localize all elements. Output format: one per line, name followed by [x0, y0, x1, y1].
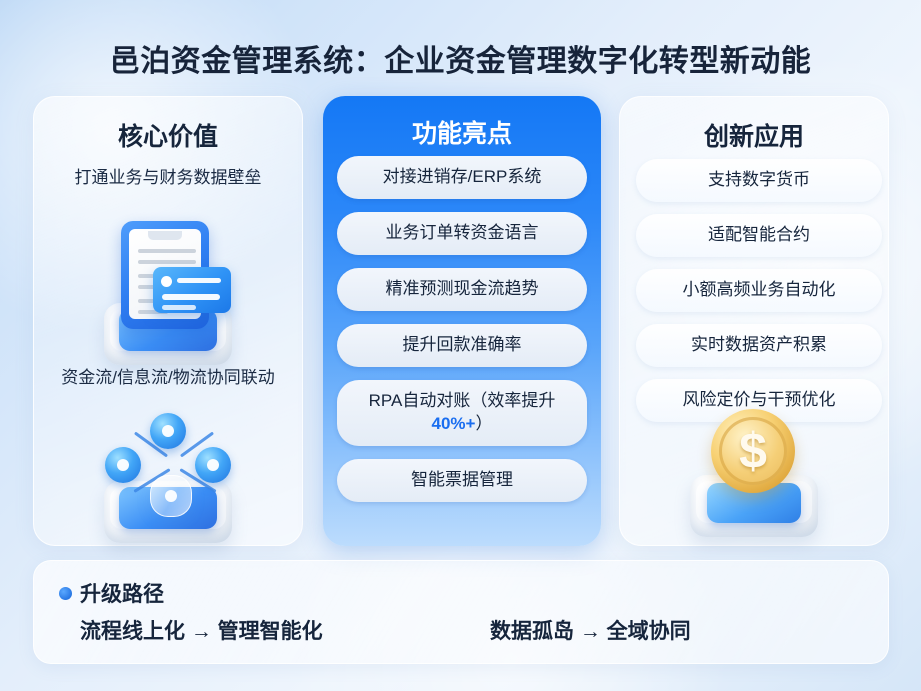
upgrade-path-bar: 升级路径 流程线上化 → 管理智能化 数据孤岛 → 全域协同 [33, 560, 889, 664]
card-title-innovative-applications: 创新应用 [620, 117, 888, 153]
data-card-overlay [153, 267, 231, 313]
document-clipboard-icon [34, 215, 302, 365]
feature-pill[interactable]: 对接进销存/ERP系统 [337, 156, 587, 199]
core-value-subtitle-bottom: 资金流/信息流/物流协同联动 [34, 363, 302, 388]
rpa-suffix: ） [475, 414, 492, 433]
rpa-highlight: 40%+ [432, 414, 476, 433]
upgrade-path-item: 数据孤岛 → 全域协同 [490, 615, 691, 645]
innovation-pill[interactable]: 小额高频业务自动化 [636, 269, 882, 312]
card-core-value: 核心价值 打通业务与财务数据壁垒 [33, 96, 303, 546]
infographic-page: 邑泊资金管理系统：企业资金管理数字化转型新动能 核心价值 打通业务与财务数据壁垒 [0, 0, 921, 691]
network-node-bottom [150, 475, 192, 517]
dollar-sign-glyph: $ [739, 426, 767, 476]
feature-pill[interactable]: 精准预测现金流趋势 [337, 268, 587, 311]
upgrade-path-item: 流程线上化 → 管理智能化 [80, 615, 490, 645]
card-innovative-applications: 创新应用 支持数字货币 适配智能合约 小额高频业务自动化 实时数据资产积累 风险… [619, 96, 889, 546]
network-node-left [105, 447, 141, 483]
gold-coin-dollar-icon: $ [620, 409, 888, 529]
innovation-pill-list: 支持数字货币 适配智能合约 小额高频业务自动化 实时数据资产积累 风险定价与干预… [636, 159, 882, 422]
card-feature-highlights: 功能亮点 对接进销存/ERP系统 业务订单转资金语言 精准预测现金流趋势 提升回… [323, 96, 601, 546]
bullet-dot-icon [59, 587, 72, 600]
upgrade-path-title: 升级路径 [80, 578, 164, 608]
page-title: 邑泊资金管理系统：企业资金管理数字化转型新动能 [0, 36, 921, 80]
rpa-text: RPA自动对账（效率提升 [369, 391, 556, 410]
core-value-subtitle-top: 打通业务与财务数据壁垒 [34, 163, 302, 188]
network-node-right [195, 447, 231, 483]
feature-pill[interactable]: 提升回款准确率 [337, 324, 587, 367]
card-title-feature-highlights: 功能亮点 [323, 114, 601, 150]
feature-pill[interactable]: 业务订单转资金语言 [337, 212, 587, 255]
network-node-top [150, 413, 186, 449]
innovation-pill[interactable]: 适配智能合约 [636, 214, 882, 257]
feature-pill-rpa[interactable]: RPA自动对账（效率提升40%+） [337, 380, 587, 446]
feature-pill-list: 对接进销存/ERP系统 业务订单转资金语言 精准预测现金流趋势 提升回款准确率 … [337, 156, 587, 502]
innovation-pill[interactable]: 实时数据资产积累 [636, 324, 882, 367]
innovation-pill[interactable]: 支持数字货币 [636, 159, 882, 202]
upgrade-path-row: 流程线上化 → 管理智能化 数据孤岛 → 全域协同 [80, 615, 870, 645]
clipboard-tab [148, 231, 182, 240]
cards-row: 核心价值 打通业务与财务数据壁垒 [33, 96, 889, 546]
feature-pill[interactable]: 智能票据管理 [337, 459, 587, 502]
card-title-core-value: 核心价值 [34, 117, 302, 153]
coin-face: $ [711, 409, 795, 493]
network-nodes-icon [34, 411, 302, 529]
